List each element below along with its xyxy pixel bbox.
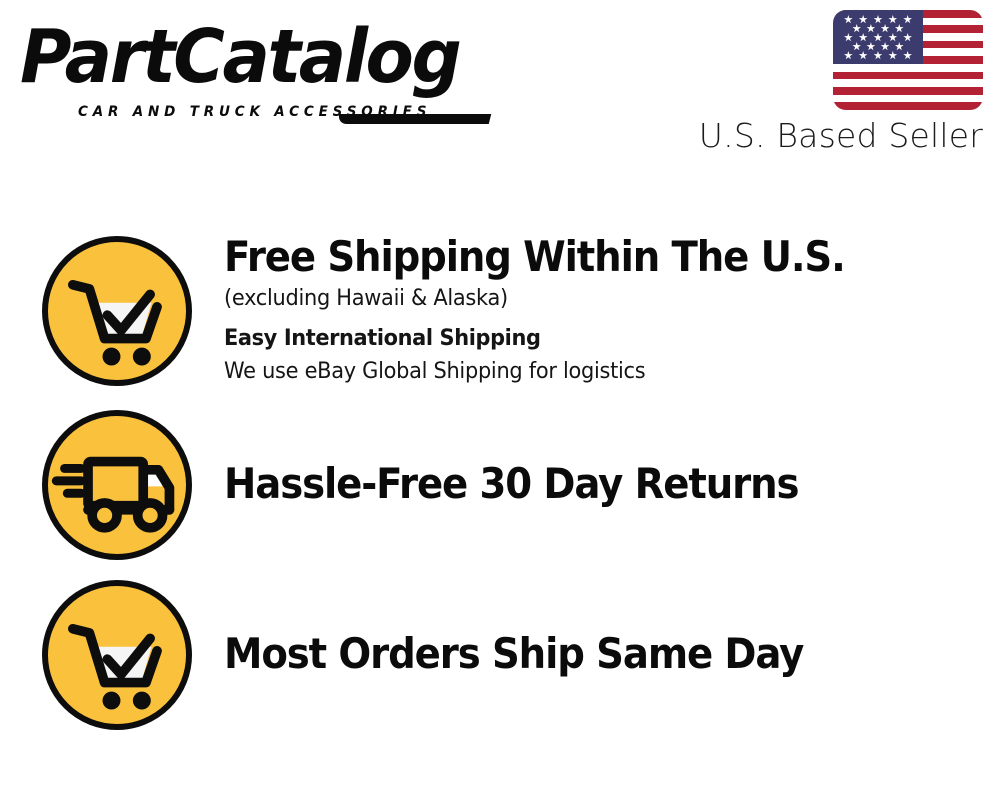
feature-text-block: Free Shipping Within The U.S. (excluding…: [192, 232, 1000, 390]
flag-canton: [833, 10, 923, 64]
shopping-cart-check-icon: [48, 242, 186, 380]
feature-row: Hassle-Free 30 Day Returns: [0, 400, 1000, 570]
feature-text-block: Hassle-Free 30 Day Returns: [192, 459, 1000, 511]
us-flag-icon: [833, 10, 983, 110]
feature-subtext-international: Easy International Shipping: [224, 323, 961, 355]
feature-list: Free Shipping Within The U.S. (excluding…: [0, 222, 1000, 740]
feature-text-block: Most Orders Ship Same Day: [192, 629, 1000, 681]
delivery-truck-icon: [48, 416, 186, 554]
feature-headline: Hassle-Free 30 Day Returns: [224, 459, 938, 509]
shipping-info-banner: PartCatalog CAR AND TRUCK ACCESSORIES: [0, 0, 1000, 800]
feature-icon-badge: [42, 580, 192, 730]
us-based-seller-badge: U.S. Based Seller: [714, 10, 986, 162]
feature-icon-badge: [42, 236, 192, 386]
feature-row: Most Orders Ship Same Day: [0, 570, 1000, 740]
us-based-seller-label: U.S. Based Seller: [699, 116, 983, 156]
logo-tagline: CAR AND TRUCK ACCESSORIES: [78, 104, 431, 120]
feature-headline: Most Orders Ship Same Day: [224, 629, 938, 679]
feature-row: Free Shipping Within The U.S. (excluding…: [0, 222, 1000, 400]
feature-icon-badge: [42, 410, 192, 560]
logo-wordmark: PartCatalog: [20, 18, 459, 96]
shopping-cart-check-icon: [48, 586, 186, 724]
feature-headline: Free Shipping Within The U.S.: [224, 232, 938, 282]
partcatalog-logo: PartCatalog CAR AND TRUCK ACCESSORIES: [20, 18, 490, 123]
banner-header: PartCatalog CAR AND TRUCK ACCESSORIES: [0, 0, 1000, 180]
feature-subtext-exclusions: (excluding Hawaii & Alaska): [224, 283, 961, 315]
flag-stars: [833, 10, 923, 64]
feature-subtext-logistics: We use eBay Global Shipping for logistic…: [224, 356, 961, 388]
